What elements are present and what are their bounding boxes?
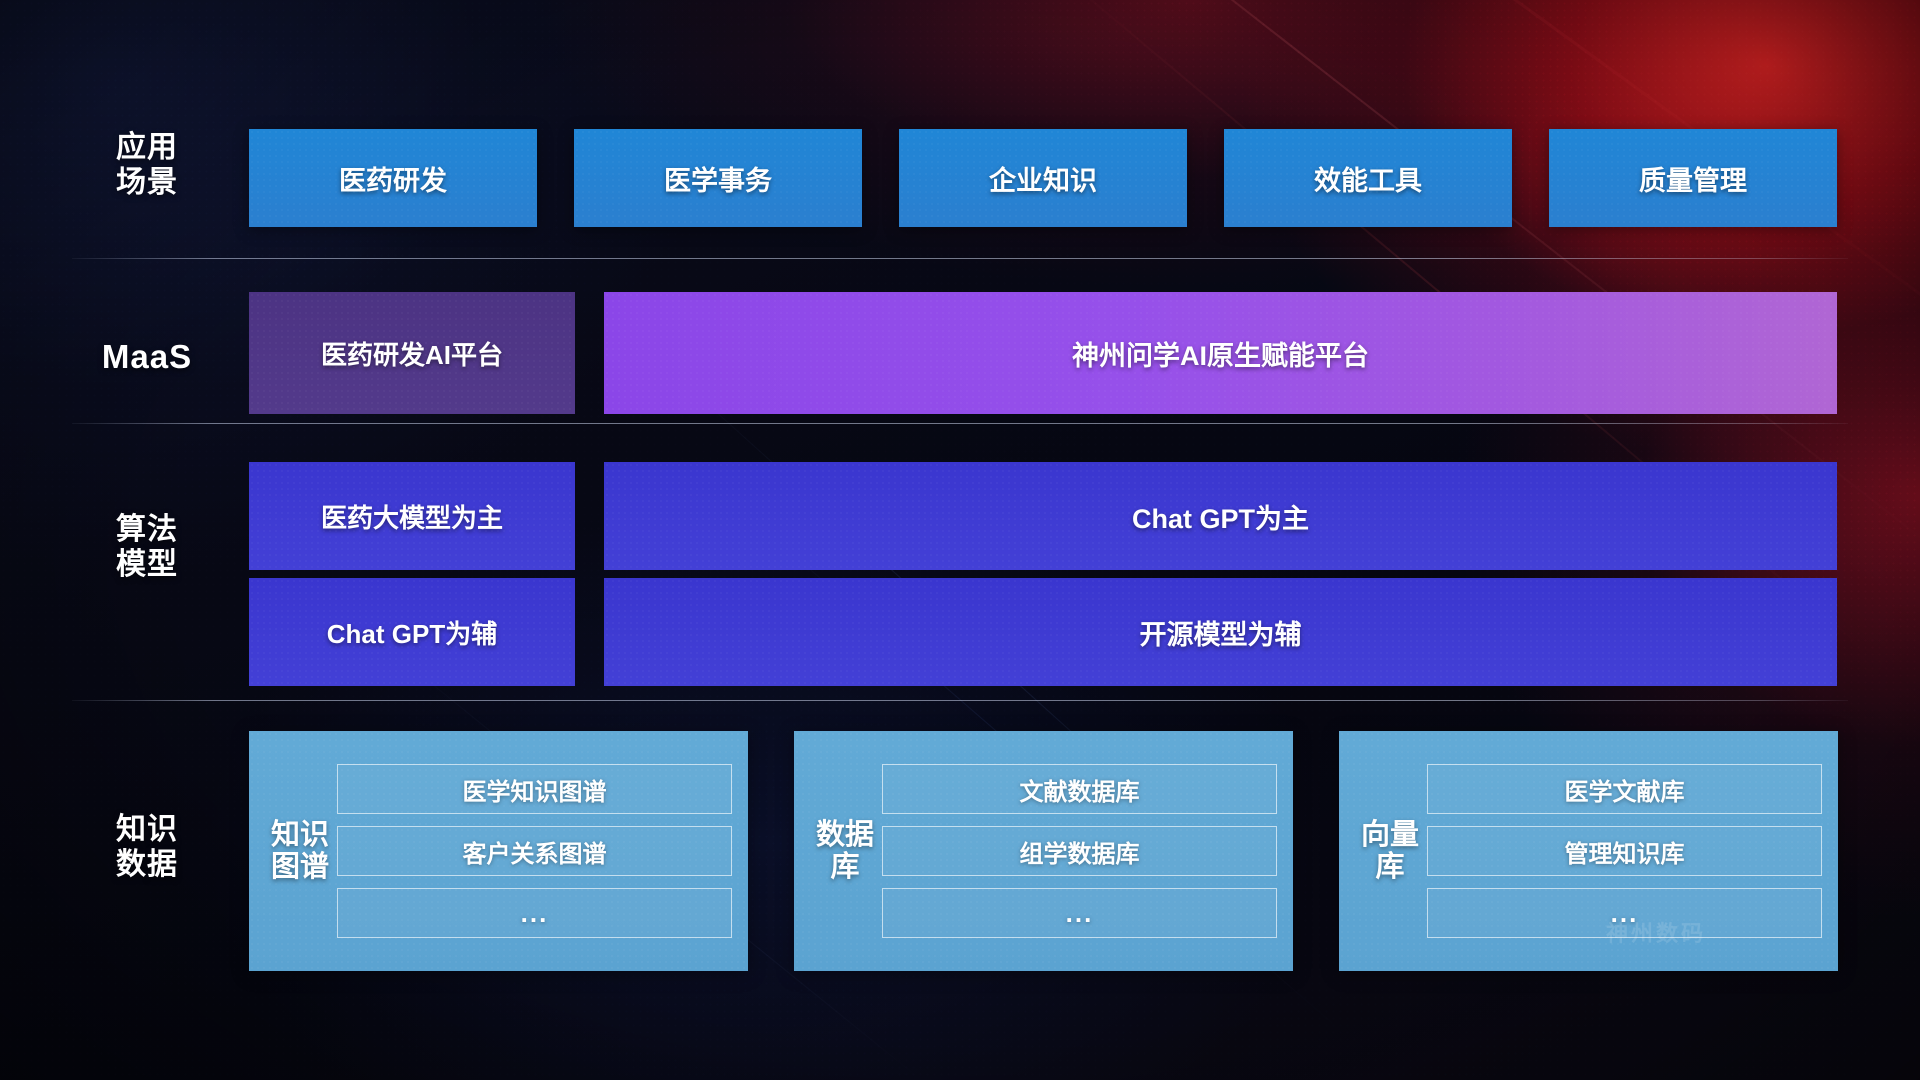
- row-label-application-line1: 应用: [72, 130, 222, 165]
- app-card-label: 医学事务: [664, 159, 772, 198]
- app-card-label: 企业知识: [989, 159, 1097, 198]
- divider-application-maas: [72, 258, 1848, 259]
- app-card-efficiency-tools[interactable]: 效能工具: [1224, 129, 1512, 227]
- knowledge-item[interactable]: 客户关系图谱: [337, 826, 732, 876]
- row-label-knowledge: 知识 数据: [72, 812, 222, 883]
- divider-algorithm-knowledge: [72, 700, 1848, 701]
- row-label-knowledge-line1: 知识: [72, 812, 222, 847]
- algo-card-chatgpt-primary[interactable]: Chat GPT为主: [604, 462, 1837, 570]
- knowledge-item-more[interactable]: ...: [1427, 888, 1822, 938]
- maas-card-label: 神州问学AI原生赋能平台: [1072, 334, 1369, 373]
- maas-card-label: 医药研发AI平台: [321, 335, 503, 372]
- app-card-quality-management[interactable]: 质量管理: [1549, 129, 1837, 227]
- row-label-application-line2: 场景: [72, 165, 222, 200]
- knowledge-group-items: 文献数据库 组学数据库 ...: [882, 764, 1277, 938]
- app-card-enterprise-knowledge[interactable]: 企业知识: [899, 129, 1187, 227]
- knowledge-item[interactable]: 组学数据库: [882, 826, 1277, 876]
- app-card-label: 质量管理: [1639, 159, 1747, 198]
- knowledge-item[interactable]: 医学知识图谱: [337, 764, 732, 814]
- knowledge-group-title: 知识图谱: [263, 819, 337, 884]
- knowledge-item[interactable]: 管理知识库: [1427, 826, 1822, 876]
- architecture-diagram: 应用 场景 医药研发 医学事务 企业知识 效能工具 质量管理 MaaS 医药研发…: [0, 0, 1920, 1080]
- row-label-algorithm-line1: 算法: [72, 512, 222, 547]
- knowledge-group-database[interactable]: 数据库 文献数据库 组学数据库 ...: [794, 731, 1293, 971]
- knowledge-group-items: 医学文献库 管理知识库 ...: [1427, 764, 1822, 938]
- maas-card-shenzhou-wenxue-platform[interactable]: 神州问学AI原生赋能平台: [604, 292, 1837, 414]
- algo-card-label: 开源模型为辅: [1140, 613, 1302, 652]
- row-label-application: 应用 场景: [72, 130, 222, 201]
- app-card-medicine-rnd[interactable]: 医药研发: [249, 129, 537, 227]
- app-card-label: 效能工具: [1314, 159, 1422, 198]
- maas-card-medicine-ai-platform[interactable]: 医药研发AI平台: [249, 292, 575, 414]
- row-label-maas-text: MaaS: [72, 338, 222, 377]
- knowledge-group-graph[interactable]: 知识图谱 医学知识图谱 客户关系图谱 ...: [249, 731, 748, 971]
- knowledge-group-title: 向量库: [1353, 819, 1427, 884]
- knowledge-group-vector[interactable]: 向量库 医学文献库 管理知识库 ...: [1339, 731, 1838, 971]
- app-card-medical-affairs[interactable]: 医学事务: [574, 129, 862, 227]
- row-label-algorithm: 算法 模型: [72, 512, 222, 583]
- knowledge-item[interactable]: 文献数据库: [882, 764, 1277, 814]
- algo-card-opensource-secondary[interactable]: 开源模型为辅: [604, 578, 1837, 686]
- knowledge-group-title: 数据库: [808, 819, 882, 884]
- algo-card-chatgpt-secondary[interactable]: Chat GPT为辅: [249, 578, 575, 686]
- algo-card-medicine-llm-primary[interactable]: 医药大模型为主: [249, 462, 575, 570]
- row-label-knowledge-line2: 数据: [72, 847, 222, 882]
- row-label-maas: MaaS: [72, 338, 222, 377]
- knowledge-group-items: 医学知识图谱 客户关系图谱 ...: [337, 764, 732, 938]
- algo-card-label: Chat GPT为主: [1132, 497, 1309, 536]
- knowledge-item-more[interactable]: ...: [337, 888, 732, 938]
- row-label-algorithm-line2: 模型: [72, 547, 222, 582]
- app-card-label: 医药研发: [339, 159, 447, 198]
- knowledge-item[interactable]: 医学文献库: [1427, 764, 1822, 814]
- knowledge-item-more[interactable]: ...: [882, 888, 1277, 938]
- algo-card-label: 医药大模型为主: [321, 498, 503, 535]
- algo-card-label: Chat GPT为辅: [327, 614, 497, 651]
- divider-maas-algorithm: [72, 423, 1848, 424]
